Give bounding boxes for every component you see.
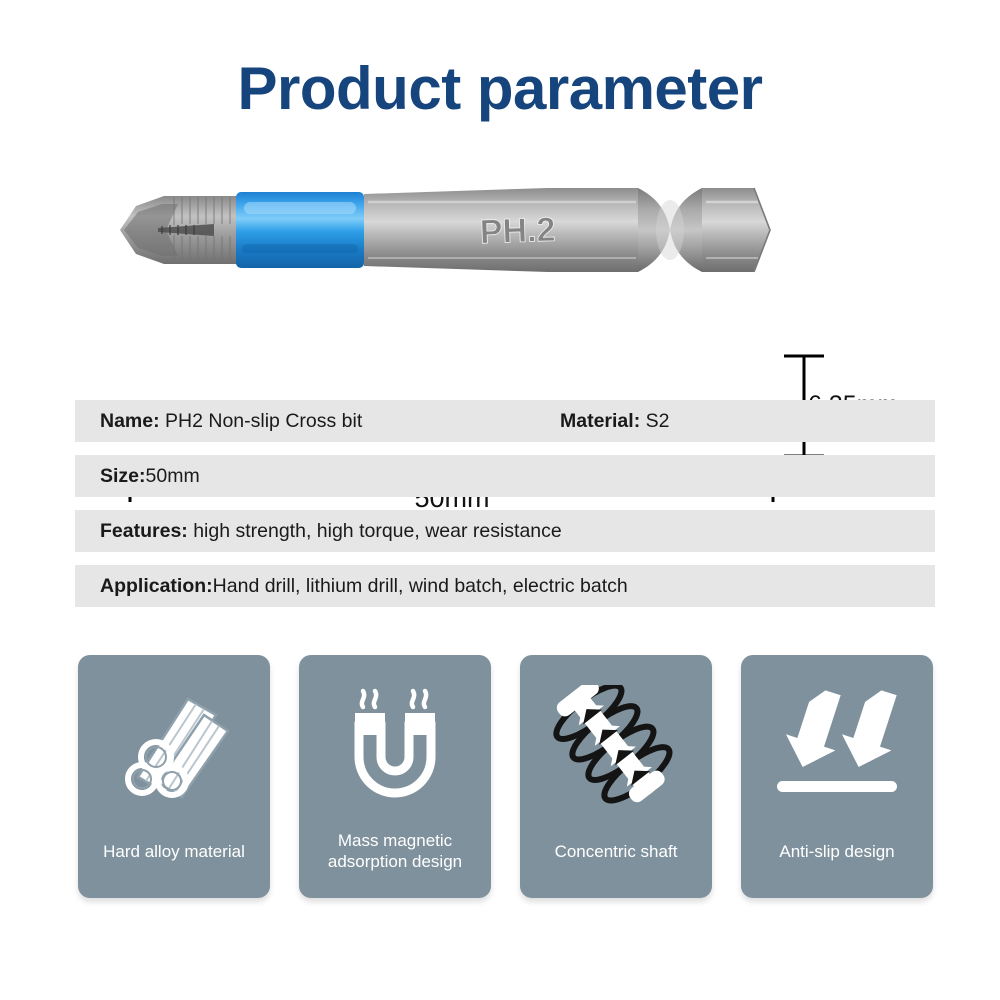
feature-card-label-line2: adsorption design (328, 852, 462, 871)
spec-label: Application: (100, 575, 213, 597)
concentric-coil-shaft-icon (520, 677, 712, 817)
feature-card-label: Hard alloy material (84, 841, 264, 862)
spec-cell-name: Name: PH2 Non-slip Cross bit (75, 410, 362, 433)
anti-slip-arrows-icon (741, 677, 933, 817)
feature-card-label: Mass magneticadsorption design (305, 830, 485, 873)
spec-label: Material: (560, 410, 640, 432)
horseshoe-magnet-icon (299, 677, 491, 817)
product-parameter-page: Product parameter (0, 0, 1000, 1000)
table-row: Features: high strength, high torque, we… (75, 510, 935, 552)
spec-value: S2 (640, 410, 669, 432)
bit-marking-text: PH.2 (479, 211, 556, 252)
feature-card-concentric-shaft: Concentric shaft (520, 655, 712, 898)
feature-card-label: Anti-slip design (747, 841, 927, 862)
spec-cell-features: Features: high strength, high torque, we… (75, 520, 562, 543)
spec-label: Name: (100, 410, 160, 432)
table-row: Application:Hand drill, lithium drill, w… (75, 565, 935, 607)
spec-cell-application: Application:Hand drill, lithium drill, w… (75, 575, 628, 598)
spec-value: 50mm (146, 465, 200, 487)
table-row: Name: PH2 Non-slip Cross bit Material: S… (75, 400, 935, 442)
spec-value: high strength, high torque, wear resista… (188, 520, 562, 542)
screwdriver-bit-image: PH.2 (118, 170, 798, 290)
spec-cell-size: Size:50mm (75, 465, 200, 488)
feature-card-list: Hard alloy material Mass magneticadsorp (78, 655, 938, 900)
feature-card-magnetic: Mass magneticadsorption design (299, 655, 491, 898)
page-title: Product parameter (0, 56, 1000, 122)
feature-card-hard-alloy: Hard alloy material (78, 655, 270, 898)
spec-table: Name: PH2 Non-slip Cross bit Material: S… (75, 400, 935, 620)
feature-card-anti-slip: Anti-slip design (741, 655, 933, 898)
alloy-rods-icon (78, 677, 270, 817)
feature-card-label: Concentric shaft (526, 841, 706, 862)
spec-value: Hand drill, lithium drill, wind batch, e… (213, 575, 628, 597)
spec-cell-material: Material: S2 (535, 410, 669, 433)
spec-label: Size: (100, 465, 146, 487)
feature-card-label-line1: Mass magnetic (338, 831, 452, 850)
table-row: Size:50mm (75, 455, 935, 497)
spec-value: PH2 Non-slip Cross bit (160, 410, 363, 432)
spec-label: Features: (100, 520, 188, 542)
product-illustration: PH.2 50mm 6.35mm (0, 170, 1000, 360)
